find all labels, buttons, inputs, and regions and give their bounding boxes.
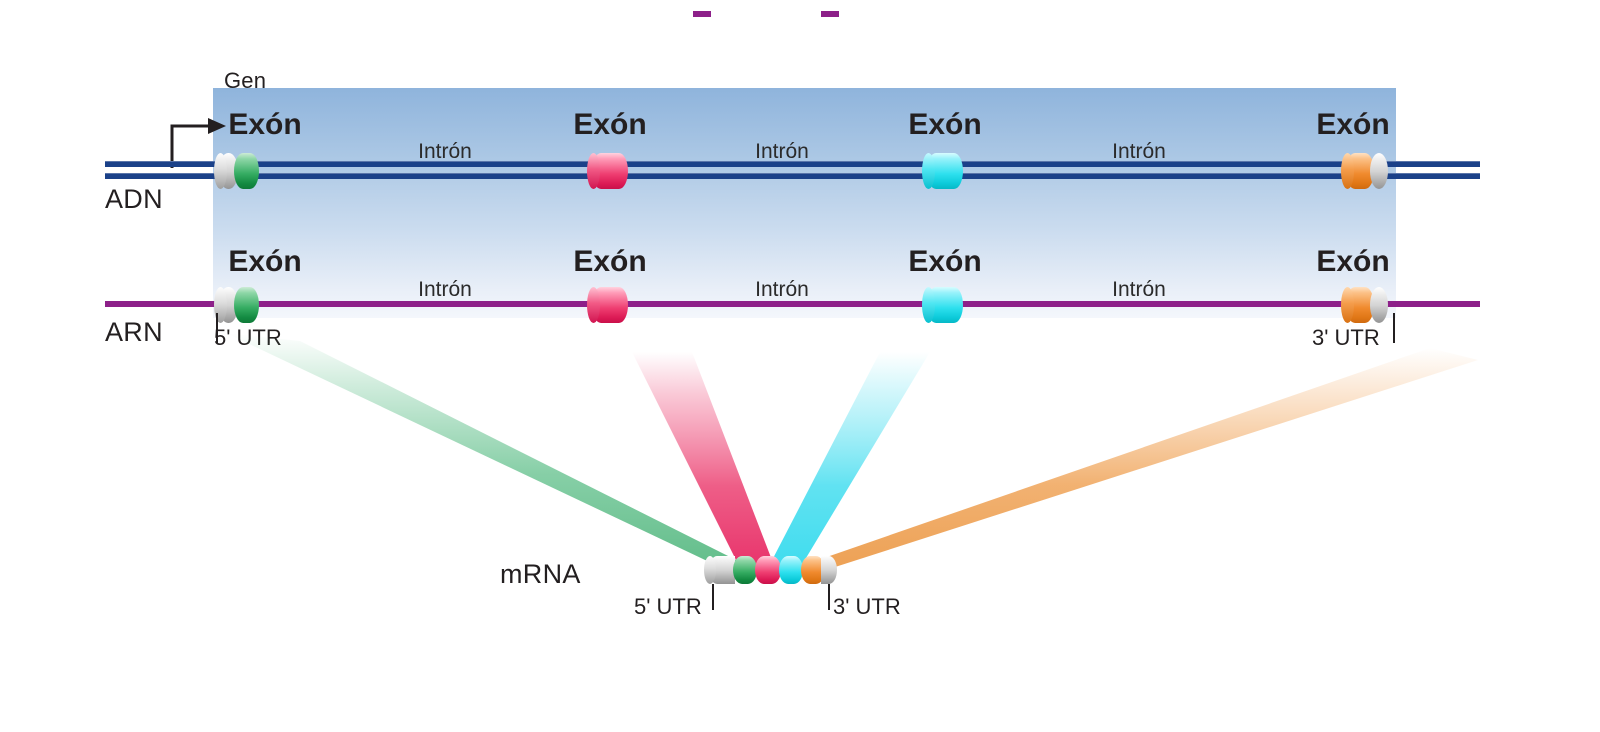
intron-label-dna-3: Intrón — [1112, 140, 1166, 164]
gene-label: Gen — [224, 68, 266, 94]
exon-cylinder-rna-3 — [927, 287, 963, 323]
exon-label-dna-1: Exón — [228, 108, 301, 142]
exon-cylinder-rna-4 — [1346, 287, 1388, 323]
mrna-cylinder — [709, 556, 837, 584]
exon-cylinder-dna-3 — [927, 153, 963, 189]
ribbon-exon-3 — [768, 352, 930, 568]
three-prime-utr-tick-mrna — [828, 584, 830, 610]
intron-label-rna-1: Intrón — [418, 278, 472, 302]
exon-label-rna-1: Exón — [228, 245, 301, 279]
five-prime-utr-label-mrna: 5' UTR — [634, 594, 702, 620]
exon-cylinder-dna-4 — [1346, 153, 1388, 189]
mrna-segment-3utr — [821, 556, 837, 584]
intron-label-rna-3: Intrón — [1112, 278, 1166, 302]
mrna-stub-left — [693, 11, 711, 17]
mrna-stub-right — [821, 11, 839, 17]
exon-cylinder-dna-2 — [592, 153, 628, 189]
three-prime-utr-label-mrna: 3' UTR — [833, 594, 901, 620]
splicing-diagram: Gen ADN ARN Exón Exón Exón Exón Intrón I… — [0, 0, 1600, 732]
exon-label-dna-2: Exón — [573, 108, 646, 142]
mrna-segment-exon-2 — [755, 556, 781, 584]
intron-label-dna-2: Intrón — [755, 140, 809, 164]
dna-band-bottom — [105, 173, 1480, 179]
five-prime-utr-label-rna: 5' UTR — [214, 325, 282, 351]
exon-cylinder-dna-1 — [219, 153, 259, 189]
three-prime-utr-tick-rna — [1393, 313, 1395, 343]
exon-cylinder-rna-1 — [219, 287, 259, 323]
mrna-left-cap — [704, 556, 716, 584]
exon-label-rna-4: Exón — [1316, 245, 1389, 279]
mrna-segment-exon-1 — [733, 556, 757, 584]
rna-strand-label: ARN — [105, 317, 163, 348]
exon-label-dna-3: Exón — [908, 108, 981, 142]
mrna-segment-exon-3 — [779, 556, 803, 584]
exon-label-rna-2: Exón — [573, 245, 646, 279]
ribbon-exon-1 — [226, 333, 752, 568]
five-prime-utr-tick-mrna — [712, 584, 714, 610]
dna-strand-label: ADN — [105, 184, 163, 215]
three-prime-utr-label-rna: 3' UTR — [1312, 325, 1380, 351]
exon-label-dna-4: Exón — [1316, 108, 1389, 142]
exon-label-rna-3: Exón — [908, 245, 981, 279]
exon-cylinder-rna-2 — [592, 287, 628, 323]
intron-label-dna-1: Intrón — [418, 140, 472, 164]
mrna-label: mRNA — [500, 559, 581, 590]
ribbon-exon-4 — [795, 348, 1478, 568]
ribbon-exon-2 — [632, 352, 775, 568]
intron-label-rna-2: Intrón — [755, 278, 809, 302]
